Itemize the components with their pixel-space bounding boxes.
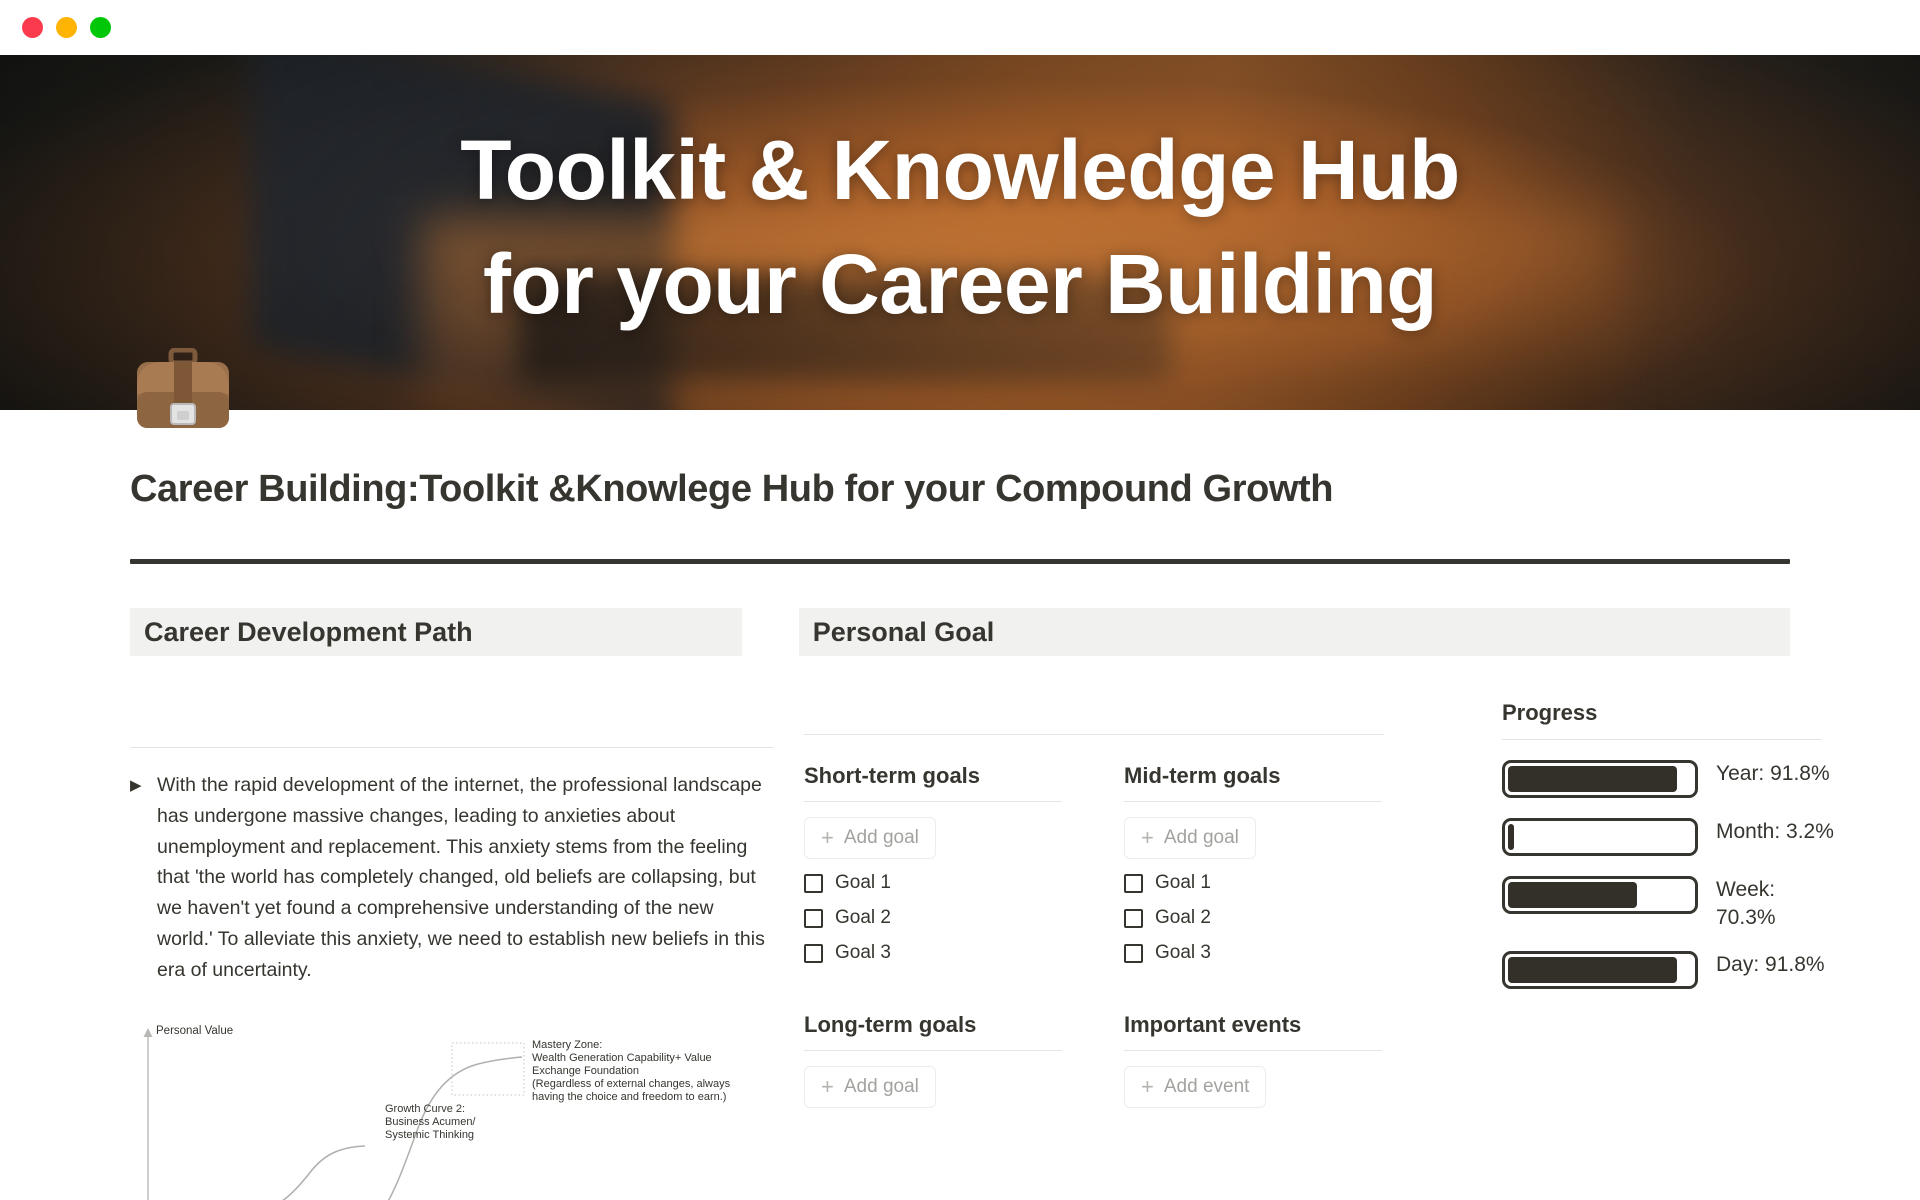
add-goal-button-mid-term[interactable]: + Add goal — [1124, 817, 1256, 859]
goal-group-short-term-title: Short-term goals — [804, 763, 1062, 789]
goal-group-important-events-title: Important events — [1124, 1012, 1382, 1038]
page-divider — [130, 559, 1790, 564]
add-goal-label: Add goal — [844, 1076, 919, 1098]
progress-bar-week-fill — [1508, 882, 1637, 908]
checkbox-icon[interactable] — [804, 944, 823, 963]
add-goal-button-short-term[interactable]: + Add goal — [804, 817, 936, 859]
goal-group-mid-term: Mid-term goals + Add goal Goal 1 Goa — [1124, 763, 1382, 964]
goal-checkbox-row[interactable]: Goal 1 — [804, 872, 1062, 894]
goal-checkbox-row[interactable]: Goal 2 — [1124, 907, 1382, 929]
checkbox-icon[interactable] — [1124, 909, 1143, 928]
goal-group-rule — [1124, 1050, 1382, 1051]
window-titlebar — [0, 0, 1920, 55]
toggle-arrow-icon[interactable]: ▶ — [130, 774, 144, 986]
checkbox-icon[interactable] — [1124, 874, 1143, 893]
add-event-label: Add event — [1164, 1076, 1250, 1098]
checkbox-icon[interactable] — [1124, 944, 1143, 963]
hero-title-line-2: for your Career Building — [483, 227, 1437, 341]
briefcase-icon[interactable] — [133, 348, 233, 432]
goal-group-rule — [804, 1050, 1062, 1051]
diagram-mastery-line5: having the choice and freedom to earn.) — [532, 1091, 726, 1103]
page-title: Career Building:Toolkit &Knowlege Hub fo… — [0, 410, 1920, 511]
progress-title: Progress — [1502, 700, 1862, 726]
plus-icon: + — [1141, 1076, 1154, 1098]
progress-bar-year-label: Year: 91.8% — [1716, 760, 1830, 788]
plus-icon: + — [821, 827, 834, 849]
progress-bar-row-week: Week: 70.3% — [1502, 876, 1862, 931]
plus-icon: + — [1141, 827, 1154, 849]
progress-bar-month[interactable] — [1502, 818, 1698, 856]
left-column-rule — [130, 747, 774, 748]
career-growth-curve-diagram: Personal Value Growth Curve 2: Business … — [130, 1020, 790, 1200]
goal-group-rule — [804, 801, 1062, 802]
diagram-curve2-label-line1: Growth Curve 2: — [385, 1103, 465, 1115]
window-close-button[interactable] — [22, 17, 43, 38]
progress-bar-row-year: Year: 91.8% — [1502, 760, 1862, 798]
goals-rule — [804, 734, 1384, 735]
goal-grid-row-1: Short-term goals + Add goal Goal 1 G — [804, 763, 1444, 964]
goal-label: Goal 2 — [1155, 907, 1211, 929]
progress-panel: Progress Year: 91.8% Month: 3.2% — [1502, 700, 1862, 1108]
progress-bar-row-day: Day: 91.8% — [1502, 951, 1862, 989]
progress-bar-month-fill — [1508, 824, 1514, 850]
goal-label: Goal 1 — [835, 872, 891, 894]
goal-checkbox-row[interactable]: Goal 1 — [1124, 872, 1382, 894]
hero-banner: Toolkit & Knowledge Hub for your Career … — [0, 55, 1920, 410]
goals-area: Short-term goals + Add goal Goal 1 G — [804, 700, 1444, 1108]
add-goal-label: Add goal — [1164, 827, 1239, 849]
add-goal-button-long-term[interactable]: + Add goal — [804, 1066, 936, 1108]
goal-checkbox-row[interactable]: Goal 3 — [1124, 942, 1382, 964]
personal-goal-column: Short-term goals + Add goal Goal 1 G — [804, 700, 1804, 1200]
diagram-mastery-line4: (Regardless of external changes, always — [532, 1078, 731, 1090]
section-header-personal-goal[interactable]: Personal Goal — [799, 608, 1790, 656]
goal-group-mid-term-title: Mid-term goals — [1124, 763, 1382, 789]
mastery-zone-box — [452, 1043, 524, 1095]
goal-label: Goal 3 — [835, 942, 891, 964]
section-header-career-development[interactable]: Career Development Path — [130, 608, 742, 656]
checkbox-icon[interactable] — [804, 909, 823, 928]
add-event-button[interactable]: + Add event — [1124, 1066, 1266, 1108]
career-toggle-text: With the rapid development of the intern… — [157, 770, 774, 986]
progress-bar-row-month: Month: 3.2% — [1502, 818, 1862, 856]
career-toggle-block[interactable]: ▶ With the rapid development of the inte… — [130, 770, 774, 986]
goal-group-long-term-title: Long-term goals — [804, 1012, 1062, 1038]
progress-bar-week[interactable] — [1502, 876, 1698, 914]
progress-bar-week-label: Week: 70.3% — [1716, 876, 1836, 931]
diagram-y-axis-label: Personal Value — [156, 1025, 233, 1037]
progress-bar-month-label: Month: 3.2% — [1716, 818, 1834, 846]
progress-bar-day-fill — [1508, 957, 1677, 983]
goal-group-short-term: Short-term goals + Add goal Goal 1 G — [804, 763, 1062, 964]
window-maximize-button[interactable] — [90, 17, 111, 38]
progress-rule — [1502, 739, 1822, 740]
content-columns: ▶ With the rapid development of the inte… — [0, 700, 1920, 1200]
plus-icon: + — [821, 1076, 834, 1098]
progress-bar-year-fill — [1508, 766, 1677, 792]
diagram-curve2-label-line3: Systemic Thinking — [385, 1129, 474, 1141]
progress-bar-day-label: Day: 91.8% — [1716, 951, 1825, 979]
goal-label: Goal 1 — [1155, 872, 1211, 894]
goal-grid-row-2: Long-term goals + Add goal Important eve… — [804, 1012, 1444, 1108]
add-goal-label: Add goal — [844, 827, 919, 849]
section-header-personal-goal-label: Personal Goal — [813, 617, 995, 648]
progress-bar-day[interactable] — [1502, 951, 1698, 989]
window-minimize-button[interactable] — [56, 17, 77, 38]
section-header-career-development-label: Career Development Path — [144, 617, 473, 648]
diagram-mastery-line2: Wealth Generation Capability+ Value — [532, 1052, 712, 1064]
goal-checkbox-row[interactable]: Goal 3 — [804, 942, 1062, 964]
goal-label: Goal 2 — [835, 907, 891, 929]
checkbox-icon[interactable] — [804, 874, 823, 893]
section-header-row: Career Development Path Personal Goal — [0, 608, 1920, 656]
diagram-mastery-line1: Mastery Zone: — [532, 1039, 602, 1051]
career-development-column: ▶ With the rapid development of the inte… — [130, 700, 747, 1200]
hero-title-line-1: Toolkit & Knowledge Hub — [460, 113, 1460, 227]
goal-group-long-term: Long-term goals + Add goal — [804, 1012, 1062, 1108]
goal-label: Goal 3 — [1155, 942, 1211, 964]
diagram-curve2-label-line2: Business Acumen/ — [385, 1116, 476, 1128]
goal-checkbox-row[interactable]: Goal 2 — [804, 907, 1062, 929]
goal-group-important-events: Important events + Add event — [1124, 1012, 1382, 1108]
hero-title: Toolkit & Knowledge Hub for your Career … — [0, 55, 1920, 410]
diagram-mastery-line3: Exchange Foundation — [532, 1065, 639, 1077]
goal-group-rule — [1124, 801, 1382, 802]
progress-bar-year[interactable] — [1502, 760, 1698, 798]
